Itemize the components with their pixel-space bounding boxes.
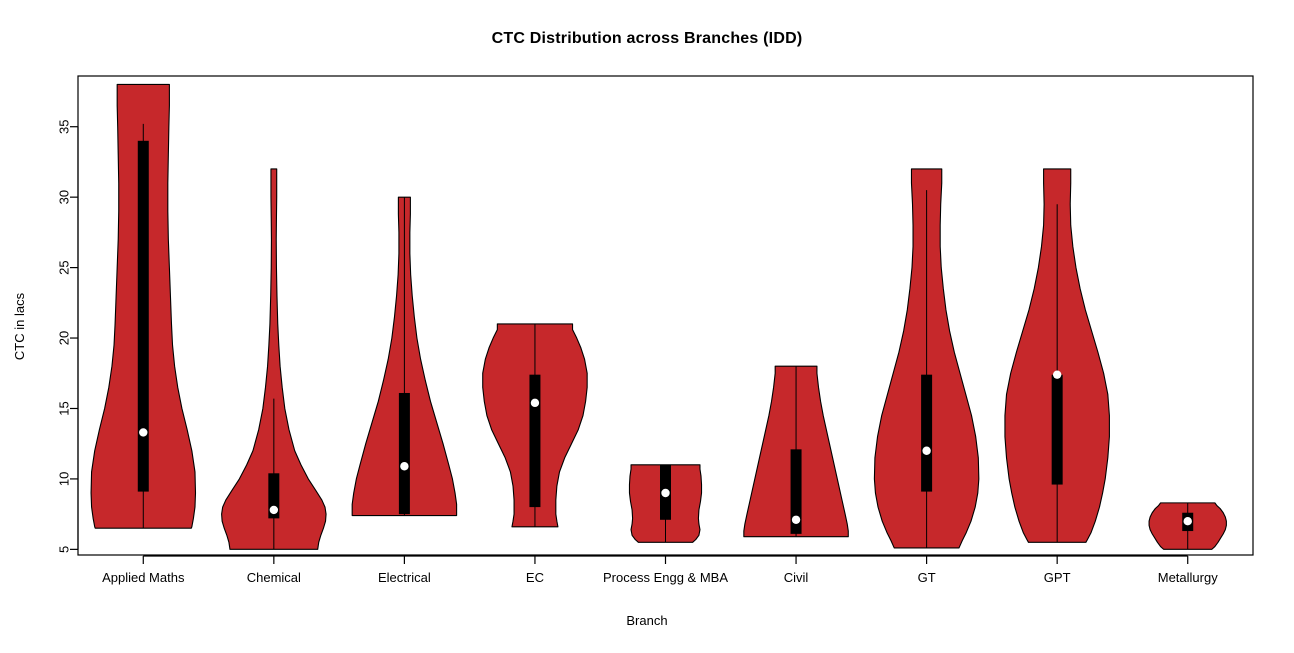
median-marker bbox=[792, 516, 800, 524]
iqr-box bbox=[138, 141, 149, 492]
x-tick-label-gpt: GPT bbox=[1044, 570, 1071, 585]
median-marker bbox=[531, 399, 539, 407]
median-marker bbox=[1053, 370, 1061, 378]
plot-canvas: 5101520253035Applied MathsChemicalElectr… bbox=[0, 0, 1294, 653]
y-tick-label: 25 bbox=[57, 260, 72, 274]
median-marker bbox=[139, 428, 147, 436]
y-tick-label: 5 bbox=[57, 546, 72, 553]
median-marker bbox=[922, 447, 930, 455]
y-tick-label: 15 bbox=[57, 401, 72, 415]
y-axis: 5101520253035 bbox=[57, 119, 79, 552]
iqr-box bbox=[1052, 375, 1063, 485]
x-tick-label-civil: Civil bbox=[784, 570, 809, 585]
y-tick-label: 35 bbox=[57, 119, 72, 133]
violin-plot-figure: CTC Distribution across Branches (IDD) C… bbox=[0, 0, 1294, 653]
median-marker bbox=[1184, 517, 1192, 525]
y-tick-label: 10 bbox=[57, 472, 72, 486]
median-marker bbox=[661, 489, 669, 497]
x-tick-label-metallurgy: Metallurgy bbox=[1158, 570, 1218, 585]
x-tick-label-gt: GT bbox=[918, 570, 936, 585]
iqr-box bbox=[921, 375, 932, 492]
median-marker bbox=[270, 506, 278, 514]
x-tick-label-ec: EC bbox=[526, 570, 544, 585]
median-marker bbox=[400, 462, 408, 470]
y-tick-label: 20 bbox=[57, 331, 72, 345]
iqr-box bbox=[399, 393, 410, 514]
x-tick-label-chemical: Chemical bbox=[247, 570, 301, 585]
x-tick-label-process-engg-mba: Process Engg & MBA bbox=[603, 570, 728, 585]
y-tick-label: 30 bbox=[57, 190, 72, 204]
x-tick-label-electrical: Electrical bbox=[378, 570, 431, 585]
x-tick-label-applied-maths: Applied Maths bbox=[102, 570, 185, 585]
x-axis: Applied MathsChemicalElectricalECProcess… bbox=[102, 556, 1218, 585]
iqr-box bbox=[529, 375, 540, 507]
